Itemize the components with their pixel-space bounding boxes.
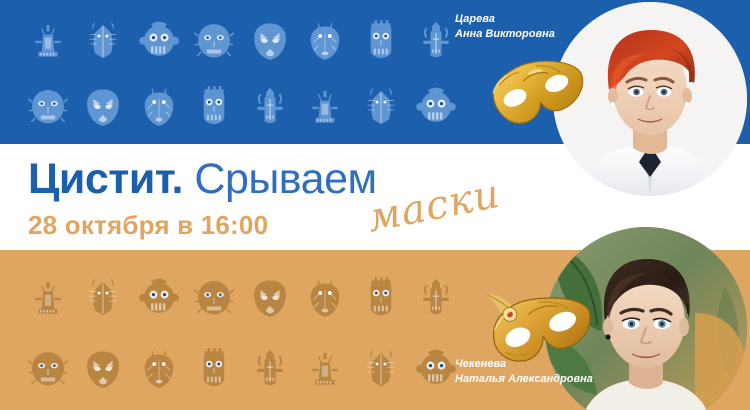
tribal-mask-icon — [189, 8, 241, 72]
tribal-mask-icon — [78, 262, 130, 331]
tribal-mask-icon — [189, 74, 241, 138]
tribal-mask-glyph — [25, 79, 71, 133]
tribal-mask-icon — [22, 74, 74, 138]
tribal-mask-icon — [300, 333, 352, 402]
tribal-mask-glyph — [413, 13, 459, 67]
tribal-mask-glyph — [358, 79, 404, 133]
tribal-mask-icon — [78, 8, 130, 72]
tribal-mask-icon — [189, 333, 241, 402]
tribal-mask-icon — [300, 74, 352, 138]
tribal-mask-icon — [133, 333, 185, 402]
tribal-mask-glyph — [191, 341, 237, 395]
tribal-mask-glyph — [247, 13, 293, 67]
tribal-mask-glyph — [191, 270, 237, 324]
tribal-mask-icon — [133, 262, 185, 331]
tribal-mask-glyph — [247, 79, 293, 133]
tribal-mask-icon — [411, 74, 463, 138]
headline-block: Цистит. Срываем 28 октября в 16:00 — [28, 155, 377, 241]
tribal-mask-icon — [411, 262, 463, 331]
tribal-mask-glyph — [302, 270, 348, 324]
tribal-mask-icon — [22, 262, 74, 331]
speaker-name-top: Царева Анна Викторовна — [455, 12, 555, 42]
tribal-mask-glyph — [136, 270, 182, 324]
tribal-mask-glyph — [80, 270, 126, 324]
tribal-mask-glyph — [191, 13, 237, 67]
tribal-mask-glyph — [247, 341, 293, 395]
tribal-mask-icon — [78, 74, 130, 138]
tribal-mask-pattern-top — [22, 8, 462, 138]
tribal-mask-icon — [355, 333, 407, 402]
tribal-mask-glyph — [302, 341, 348, 395]
tribal-mask-icon — [300, 8, 352, 72]
speaker-given-bottom: Наталья Александровна — [455, 372, 593, 387]
title-light-word: Срываем — [183, 155, 377, 203]
venetian-mask-icon-top — [487, 52, 591, 138]
speaker-surname-top: Царева — [455, 12, 555, 27]
tribal-mask-glyph — [25, 270, 71, 324]
tribal-mask-glyph — [302, 79, 348, 133]
tribal-mask-glyph — [136, 13, 182, 67]
tribal-mask-icon — [244, 262, 296, 331]
tribal-mask-icon — [133, 8, 185, 72]
tribal-mask-icon — [244, 8, 296, 72]
tribal-mask-glyph — [25, 341, 71, 395]
tribal-mask-icon — [133, 74, 185, 138]
tribal-mask-glyph — [413, 270, 459, 324]
tribal-mask-icon — [244, 333, 296, 402]
tribal-mask-icon — [78, 333, 130, 402]
tribal-mask-icon — [22, 333, 74, 402]
speaker-given-top: Анна Викторовна — [455, 27, 555, 42]
event-date: 28 октября в 16:00 — [28, 210, 377, 241]
tribal-mask-glyph — [80, 341, 126, 395]
tribal-mask-glyph — [302, 13, 348, 67]
tribal-mask-glyph — [136, 341, 182, 395]
tribal-mask-glyph — [358, 270, 404, 324]
tribal-mask-glyph — [136, 79, 182, 133]
tribal-mask-icon — [244, 74, 296, 138]
title-strong-word: Цистит. — [28, 155, 183, 203]
tribal-mask-glyph — [191, 79, 237, 133]
tribal-mask-glyph — [358, 341, 404, 395]
tribal-mask-glyph — [413, 341, 459, 395]
tribal-mask-glyph — [80, 13, 126, 67]
tribal-mask-pattern-bottom — [22, 262, 462, 402]
tribal-mask-glyph — [25, 13, 71, 67]
tribal-mask-glyph — [413, 79, 459, 133]
poster-canvas: Цистит. Срываем 28 октября в 16:00 маски… — [0, 0, 750, 410]
tribal-mask-icon — [355, 8, 407, 72]
speaker-name-bottom: Чекенева Наталья Александровна — [455, 357, 593, 387]
speaker-surname-bottom: Чекенева — [455, 357, 593, 372]
tribal-mask-icon — [22, 8, 74, 72]
tribal-mask-icon — [355, 74, 407, 138]
tribal-mask-glyph — [80, 79, 126, 133]
page-title: Цистит. Срываем — [28, 155, 377, 203]
tribal-mask-glyph — [358, 13, 404, 67]
tribal-mask-glyph — [247, 270, 293, 324]
tribal-mask-icon — [300, 262, 352, 331]
tribal-mask-icon — [189, 262, 241, 331]
tribal-mask-icon — [355, 262, 407, 331]
